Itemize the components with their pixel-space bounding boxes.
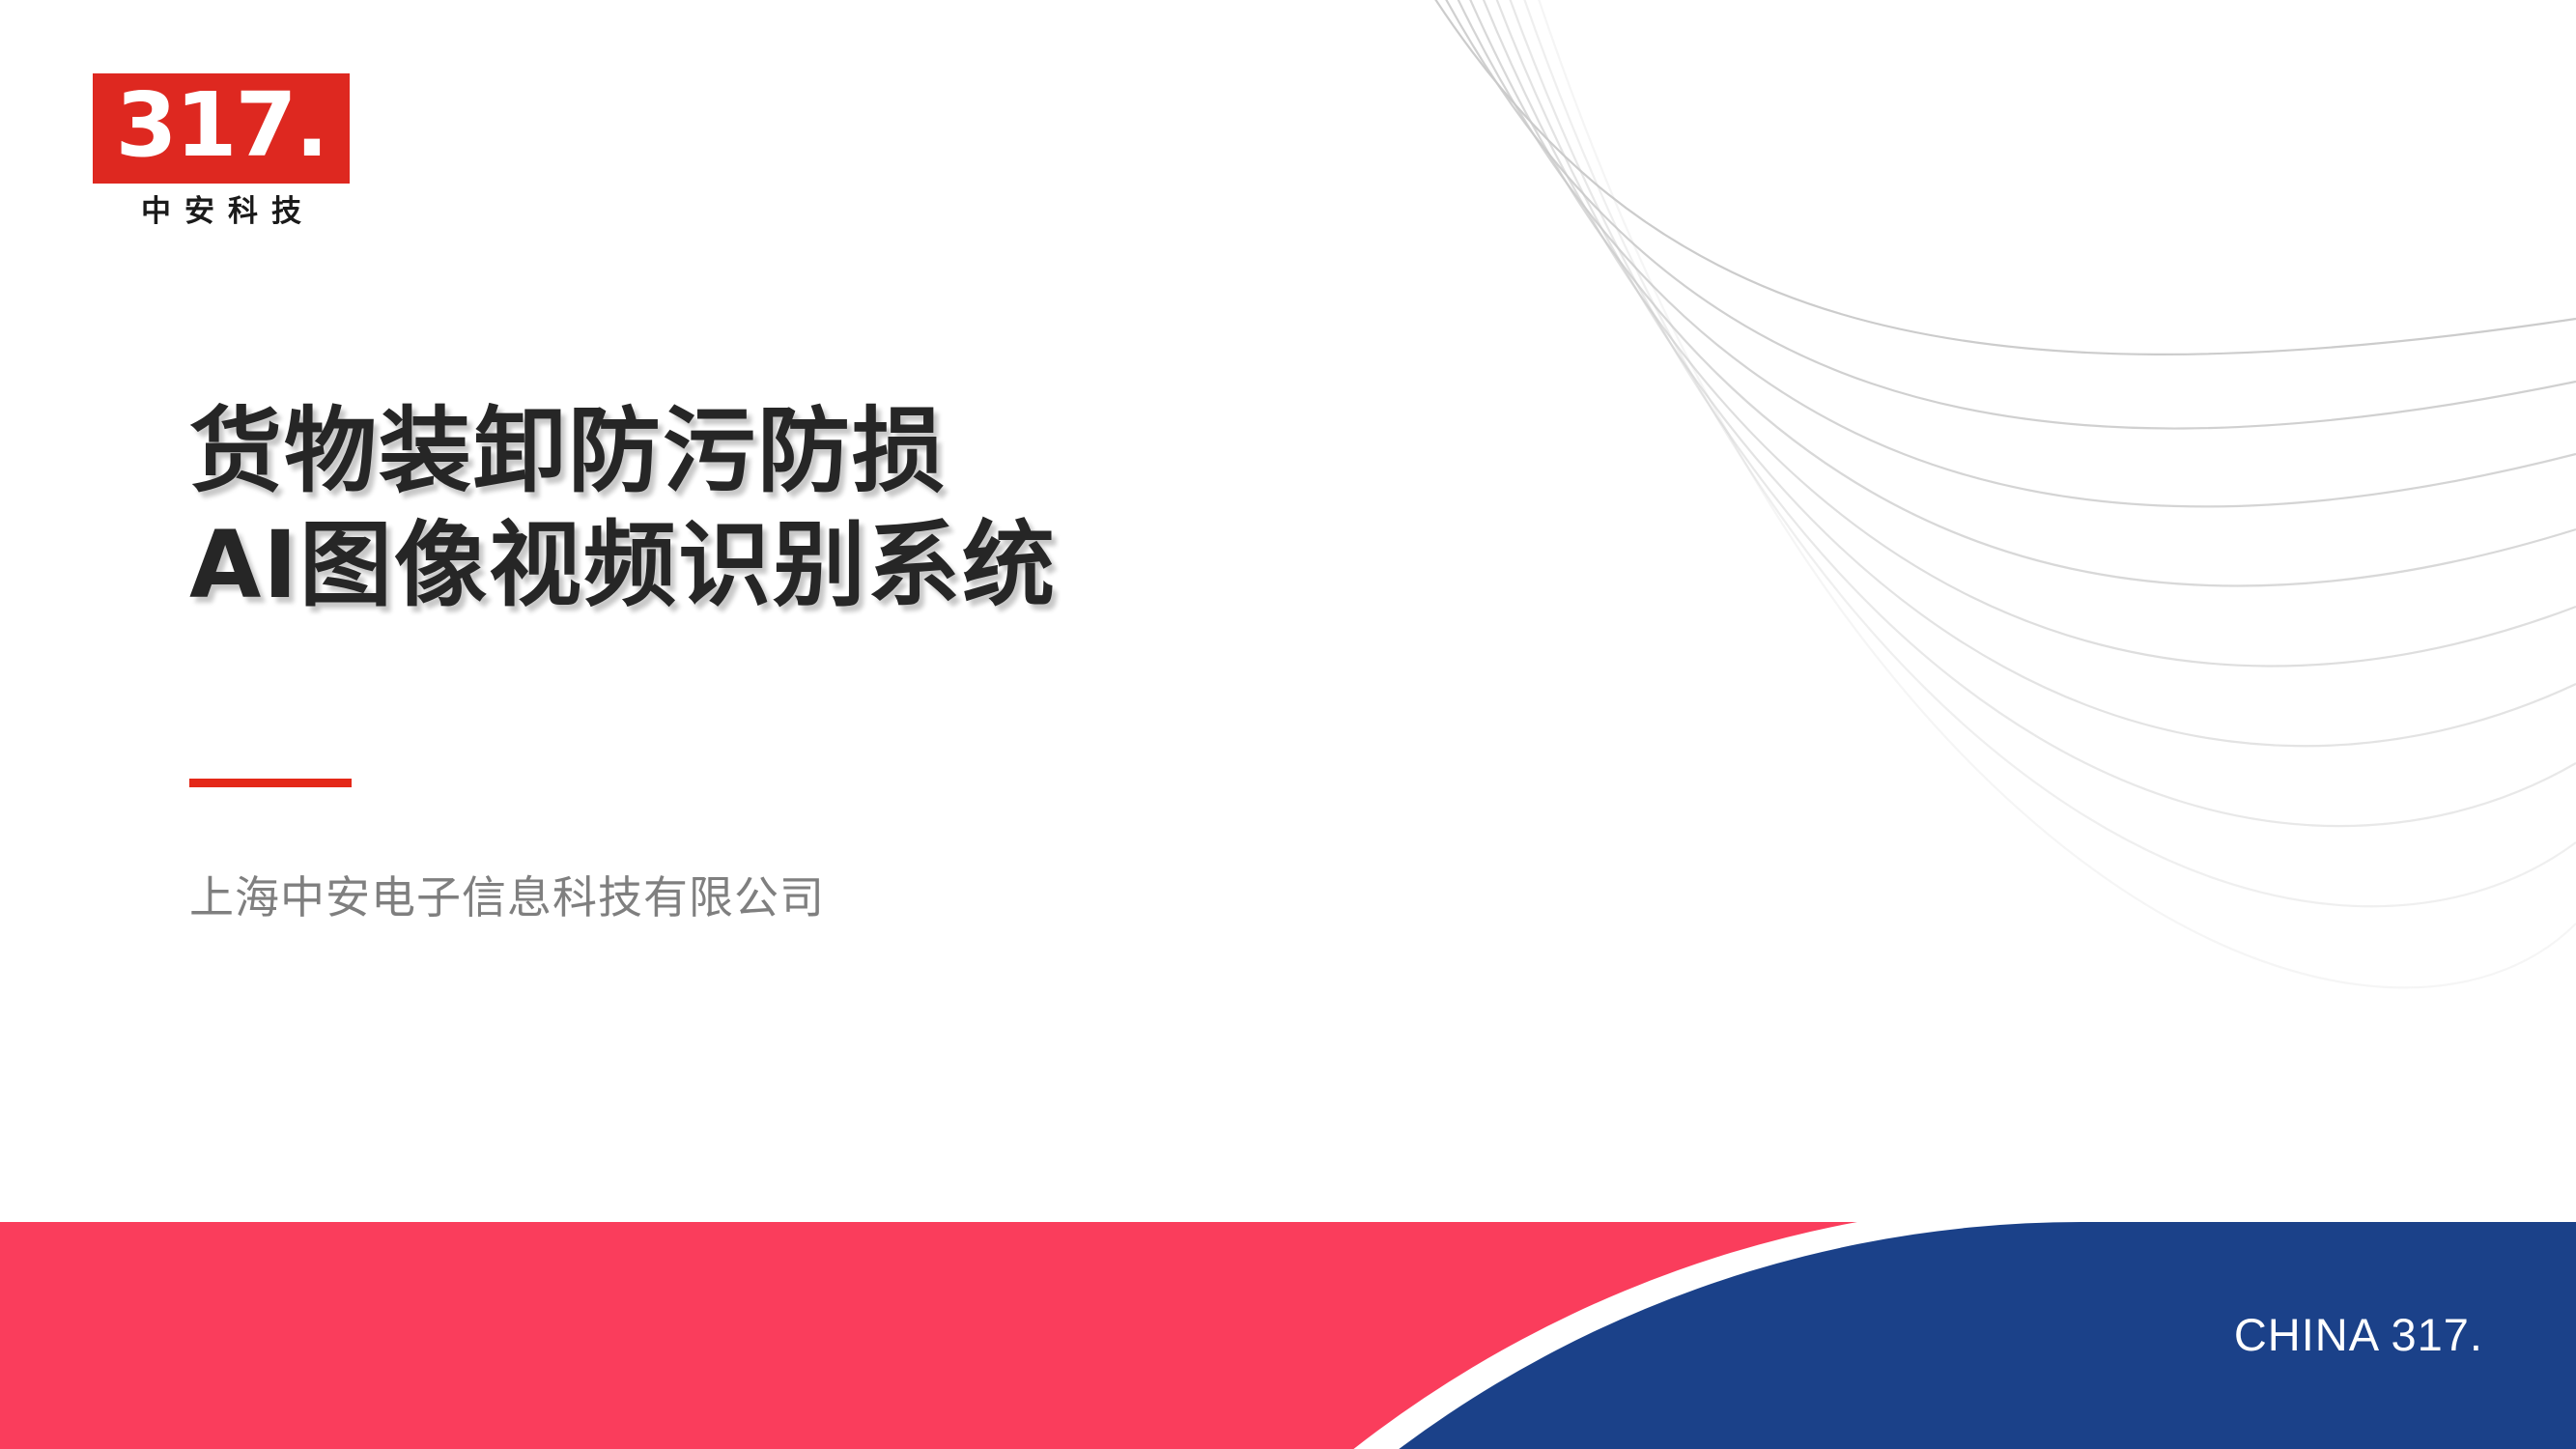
title-slide: 317. 中安科技 货物装卸防污防损 AI图像视频识别系统 上海中安电子信息科技… xyxy=(0,0,2576,1449)
company-logo: 317. 中安科技 xyxy=(93,73,350,227)
footer-brand-label: CHINA 317. xyxy=(2234,1312,2483,1357)
page-title: 货物装卸防污防损 AI图像视频识别系统 xyxy=(189,394,1542,622)
page-title-line-2: AI图像视频识别系统 xyxy=(189,508,1542,622)
footer-banner: CHINA 317. xyxy=(0,1222,2576,1449)
logo-wordmark-text: 317. xyxy=(116,81,327,170)
logo-mark-317: 317. xyxy=(93,73,350,184)
title-divider-rule xyxy=(189,779,352,787)
logo-company-short-name: 中安科技 xyxy=(93,197,350,227)
page-title-line-1: 货物装卸防污防损 xyxy=(189,394,1542,508)
subtitle-company-name: 上海中安电子信息科技有限公司 xyxy=(189,867,825,927)
